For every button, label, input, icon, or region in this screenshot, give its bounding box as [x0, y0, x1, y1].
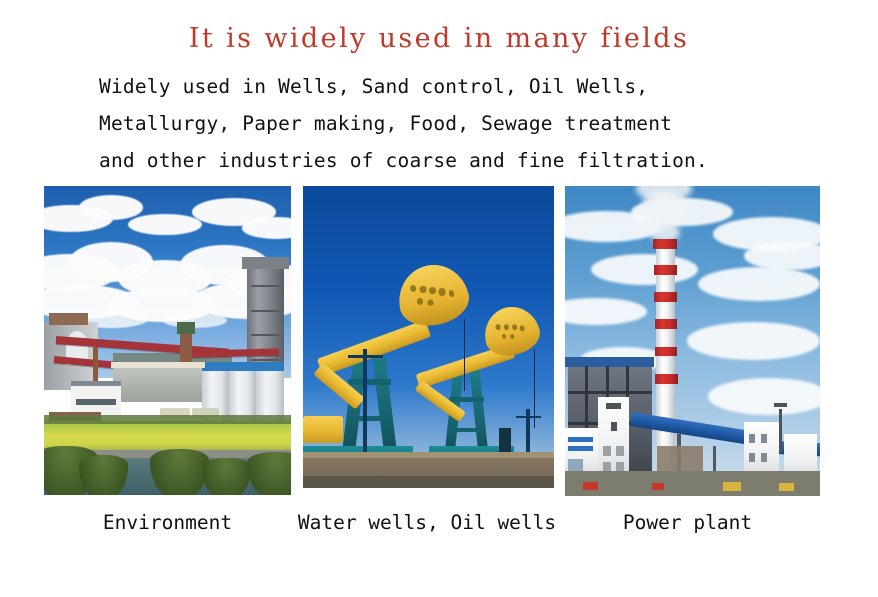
- gallery-item-water-oil-wells[interactable]: [303, 186, 554, 488]
- tower-window: [616, 462, 624, 471]
- yellow-vehicle: [723, 482, 741, 491]
- gallery-support: [713, 446, 717, 474]
- office-roof: [71, 381, 120, 386]
- horsehead-hole: [417, 297, 424, 305]
- light-mast-head: [774, 403, 787, 407]
- horsehead-hole: [427, 299, 434, 307]
- power-pylon: [363, 349, 367, 452]
- silo-top-band: [202, 362, 284, 371]
- photo-environment: [44, 186, 291, 495]
- horsehead-hole: [503, 324, 509, 331]
- cloud-shape: [591, 254, 698, 285]
- description-line-3: and other industries of coarse and fine …: [99, 142, 799, 179]
- horsehead-hole: [419, 285, 427, 293]
- front-post-brace: [348, 379, 391, 384]
- description-line-2: Metallurgy, Paper making, Food, Sewage t…: [99, 105, 799, 142]
- right-building-window: [749, 453, 755, 462]
- plant-roof: [49, 313, 89, 325]
- tower-window: [603, 462, 611, 471]
- tower-band: [251, 285, 278, 287]
- tower-signage: [606, 403, 621, 409]
- transfer-tower-top: [177, 322, 194, 334]
- tower-window: [611, 422, 617, 431]
- promotional-banner: It is widely used in many fields Widely …: [0, 0, 878, 597]
- yellow-vehicle: [779, 483, 794, 491]
- description-line-1: Widely used in Wells, Sand control, Oil …: [99, 68, 799, 105]
- light-mast: [779, 409, 782, 452]
- cloud-shape: [79, 195, 143, 220]
- tower-window: [616, 446, 624, 455]
- red-vehicle: [583, 482, 598, 490]
- willow-tree: [79, 455, 128, 495]
- conveyor-support: [93, 347, 98, 384]
- chimney-band: [655, 319, 678, 329]
- horsehead-hole: [429, 286, 437, 294]
- willow-tree: [202, 458, 251, 495]
- pipe-rack: [657, 446, 703, 474]
- pylon-crossarm: [348, 355, 383, 358]
- photo-oil-wells: [303, 186, 554, 488]
- horsehead-hole: [448, 289, 455, 297]
- foreground-dirt: [303, 476, 554, 488]
- application-photo-gallery: [44, 186, 834, 496]
- chimney-band: [655, 374, 678, 384]
- right-building-window: [749, 434, 755, 443]
- production-hall: [113, 365, 202, 402]
- front-counterweight: [303, 416, 343, 443]
- cloud-shape: [698, 267, 820, 301]
- gallery-item-power-plant[interactable]: [565, 186, 820, 496]
- chimney-band: [655, 347, 678, 357]
- red-vehicle: [652, 483, 665, 490]
- right-building-window: [761, 434, 767, 443]
- horsehead-hole: [509, 333, 515, 339]
- boiler-house-roof: [565, 357, 654, 368]
- service-building-stripe: [568, 437, 594, 442]
- cloud-shape: [163, 313, 227, 328]
- tower-cap: [242, 257, 289, 269]
- tower-band: [251, 334, 278, 336]
- photo-power-plant: [565, 186, 820, 496]
- tower-window: [603, 446, 611, 455]
- gallery-item-environment[interactable]: [44, 186, 291, 495]
- front-bridle-cable: [464, 319, 466, 391]
- description-paragraph: Widely used in Wells, Sand control, Oil …: [99, 68, 799, 179]
- right-building-window: [761, 453, 767, 462]
- dry-grass-strip: [303, 452, 554, 458]
- tower-band: [251, 310, 278, 312]
- chimney-band: [653, 239, 677, 250]
- caption-power-plant: Power plant: [560, 510, 815, 536]
- cloud-shape: [687, 322, 820, 359]
- chimney-band: [654, 265, 677, 275]
- hedge-row: [44, 415, 291, 424]
- horsehead-hole: [439, 287, 447, 295]
- rear-post-brace: [449, 428, 484, 433]
- caption-environment: Environment: [44, 510, 291, 536]
- chimney-band: [654, 292, 677, 302]
- page-title: It is widely used in many fields: [0, 22, 878, 55]
- horsehead-hole: [519, 324, 525, 331]
- horsehead-hole: [511, 324, 517, 331]
- tower-band: [251, 359, 278, 361]
- horsehead-hole: [501, 333, 507, 339]
- right-building: [744, 422, 780, 478]
- horsehead-hole: [410, 284, 418, 292]
- cloud-shape: [744, 242, 821, 270]
- hall-roof: [111, 362, 205, 368]
- horsehead-hole: [495, 324, 501, 331]
- pylon-crossarm: [516, 416, 541, 418]
- willow-tree: [150, 449, 209, 495]
- office-window-row: [76, 399, 116, 405]
- caption-water-oil-wells: Water wells, Oil wells: [282, 510, 572, 536]
- front-post-brace: [348, 416, 391, 421]
- steel-beam: [568, 391, 652, 394]
- rear-post-brace: [449, 397, 484, 402]
- service-building-stripe: [568, 446, 594, 451]
